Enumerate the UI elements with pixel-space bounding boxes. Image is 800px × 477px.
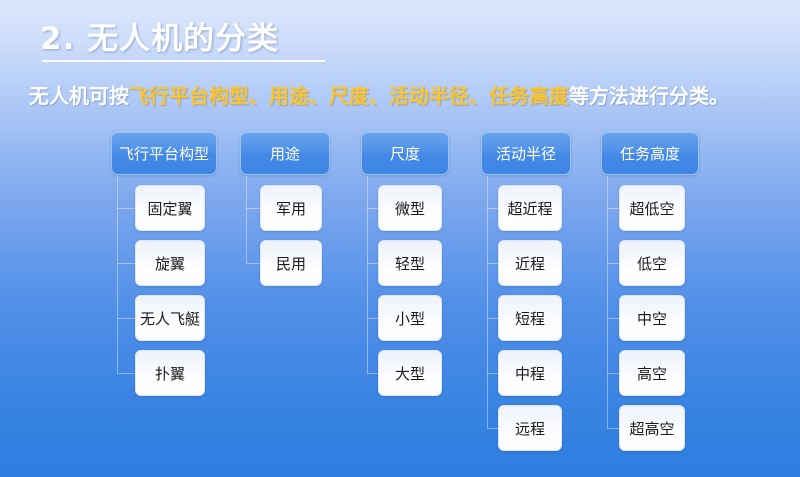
column-header-5[interactable]: 任务高度 <box>601 131 699 175</box>
connector-branch-5-1 <box>607 208 619 209</box>
connector-branch-5-4 <box>607 373 619 374</box>
connector-branch-5-3 <box>607 318 619 319</box>
connector-branch-1-1 <box>117 208 135 209</box>
column-header-4[interactable]: 活动半径 <box>481 131 571 175</box>
item-box[interactable]: 小型 <box>378 295 442 341</box>
column-header-1[interactable]: 飞行平台构型 <box>111 131 217 175</box>
item-box[interactable]: 固定翼 <box>135 185 205 231</box>
item-box[interactable]: 轻型 <box>378 240 442 286</box>
connector-trunk-4 <box>487 176 488 428</box>
connector-branch-4-2 <box>487 263 498 264</box>
connector-branch-4-4 <box>487 373 498 374</box>
connector-branch-5-2 <box>607 263 619 264</box>
item-box[interactable]: 旋翼 <box>135 240 205 286</box>
item-box[interactable]: 近程 <box>498 240 562 286</box>
item-box[interactable]: 微型 <box>378 185 442 231</box>
item-box[interactable]: 民用 <box>260 240 322 286</box>
item-box[interactable]: 超近程 <box>498 185 562 231</box>
item-box[interactable]: 超低空 <box>619 185 685 231</box>
item-box[interactable]: 远程 <box>498 405 562 451</box>
connector-branch-3-1 <box>367 208 378 209</box>
connector-branch-4-5 <box>487 428 498 429</box>
classification-diagram: 飞行平台构型固定翼旋翼无人飞艇扑翼用途军用民用尺度微型轻型小型大型活动半径超近程… <box>0 0 800 477</box>
connector-branch-1-2 <box>117 263 135 264</box>
connector-trunk-3 <box>367 176 368 373</box>
item-box[interactable]: 超高空 <box>619 405 685 451</box>
item-box[interactable]: 无人飞艇 <box>135 295 205 341</box>
connector-branch-2-1 <box>246 208 260 209</box>
item-box[interactable]: 扑翼 <box>135 350 205 396</box>
item-box[interactable]: 中程 <box>498 350 562 396</box>
connector-branch-3-2 <box>367 263 378 264</box>
column-header-2[interactable]: 用途 <box>240 131 330 175</box>
connector-branch-1-4 <box>117 373 135 374</box>
connector-branch-1-3 <box>117 318 135 319</box>
slide-canvas: 2. 无人机的分类 无人机可按飞行平台构型、用途、尺度、活动半径、任务高度等方法… <box>0 0 800 477</box>
connector-branch-3-3 <box>367 318 378 319</box>
item-box[interactable]: 军用 <box>260 185 322 231</box>
connector-branch-4-1 <box>487 208 498 209</box>
item-box[interactable]: 低空 <box>619 240 685 286</box>
item-box[interactable]: 短程 <box>498 295 562 341</box>
connector-trunk-2 <box>246 176 247 263</box>
connector-branch-3-4 <box>367 373 378 374</box>
item-box[interactable]: 中空 <box>619 295 685 341</box>
connector-trunk-5 <box>607 176 608 428</box>
item-box[interactable]: 大型 <box>378 350 442 396</box>
connector-trunk-1 <box>117 176 118 373</box>
connector-branch-2-2 <box>246 263 260 264</box>
item-box[interactable]: 高空 <box>619 350 685 396</box>
column-header-3[interactable]: 尺度 <box>361 131 449 175</box>
connector-branch-4-3 <box>487 318 498 319</box>
connector-branch-5-5 <box>607 428 619 429</box>
